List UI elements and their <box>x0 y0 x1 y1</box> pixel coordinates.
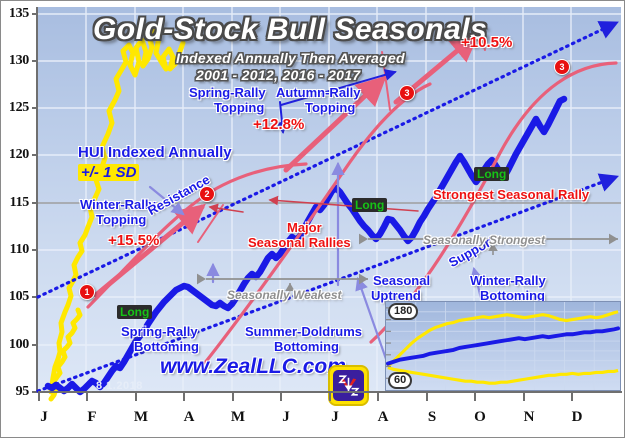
x-tick-label: M <box>231 409 245 426</box>
x-tick-label: M <box>134 409 148 426</box>
x-tick-label: O <box>474 409 486 426</box>
y-tick-label: 105 <box>9 289 29 305</box>
x-tick-label: A <box>184 409 195 426</box>
gain-callout-3 <box>480 29 485 50</box>
rally-marker-1: 1 <box>79 284 95 300</box>
y-tick-label: 95 <box>16 384 29 400</box>
inset-chart: 180 60 <box>385 301 621 391</box>
y-axis: 135 130 125 120 115 110 105 100 95 <box>1 1 38 397</box>
y-tick-label: 115 <box>10 195 29 211</box>
y-tick-label: 135 <box>9 6 29 22</box>
y-tick-label: 125 <box>9 100 29 116</box>
y-tick-label: 130 <box>9 53 29 69</box>
rally-marker-2: 2 <box>199 186 215 202</box>
y-tick-label: 110 <box>10 242 29 258</box>
winter-topping-pointer <box>150 187 183 214</box>
y-tick-label: 120 <box>9 147 29 163</box>
x-axis: J F M A M J J A S O N D <box>38 391 622 437</box>
y-tick-label: 100 <box>9 337 29 353</box>
rally-marker-3: 3 <box>399 85 415 101</box>
inset-canvas <box>386 302 620 390</box>
x-tick-label: F <box>87 409 96 426</box>
gain-arrow-2 <box>286 79 383 170</box>
x-tick-label: N <box>524 409 535 426</box>
autumn-topping-pointer <box>281 72 395 105</box>
x-tick-label: J <box>331 409 339 426</box>
chart-screenshot: 135 130 125 120 115 110 105 100 95 <box>0 0 625 438</box>
x-tick-label: D <box>572 409 583 426</box>
gain-arrow-1 <box>96 207 202 295</box>
x-tick-label: J <box>282 409 290 426</box>
x-tick-label: A <box>378 409 389 426</box>
inset-lower-band <box>388 368 618 384</box>
inset-bottom-label: 60 <box>388 372 412 389</box>
sd-band-series <box>51 30 183 399</box>
gain-callout-1 <box>198 205 223 242</box>
x-tick-label: J <box>40 409 48 426</box>
inset-top-label: 180 <box>388 303 418 320</box>
rally-marker-upper-3: 3 <box>554 59 570 75</box>
x-tick-label: S <box>428 409 436 426</box>
